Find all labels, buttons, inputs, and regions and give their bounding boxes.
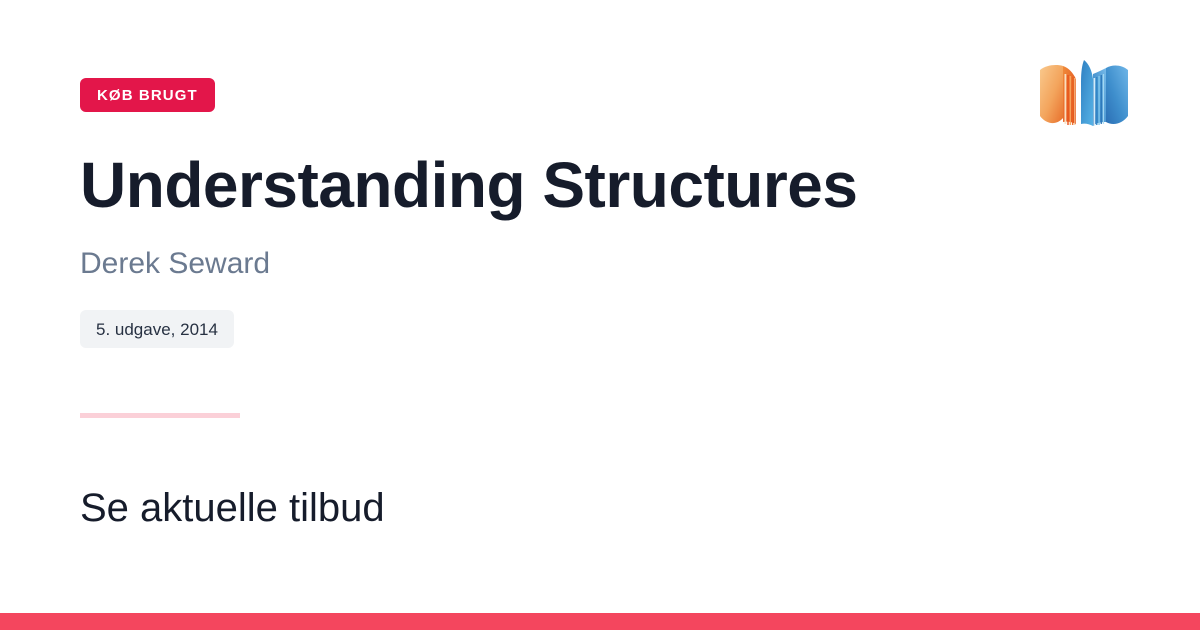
view-offers-link[interactable]: Se aktuelle tilbud — [80, 484, 385, 532]
open-book-logo — [1032, 52, 1136, 156]
book-author: Derek Seward — [80, 246, 270, 282]
edition-badge: 5. udgave, 2014 — [80, 310, 234, 348]
condition-badge: KØB BRUGT — [80, 78, 215, 112]
bottom-accent-bar — [0, 613, 1200, 630]
page-title: Understanding Structures — [80, 153, 857, 217]
book-promo-card: KØB BRUGT — [0, 0, 1200, 630]
section-divider — [80, 413, 240, 418]
